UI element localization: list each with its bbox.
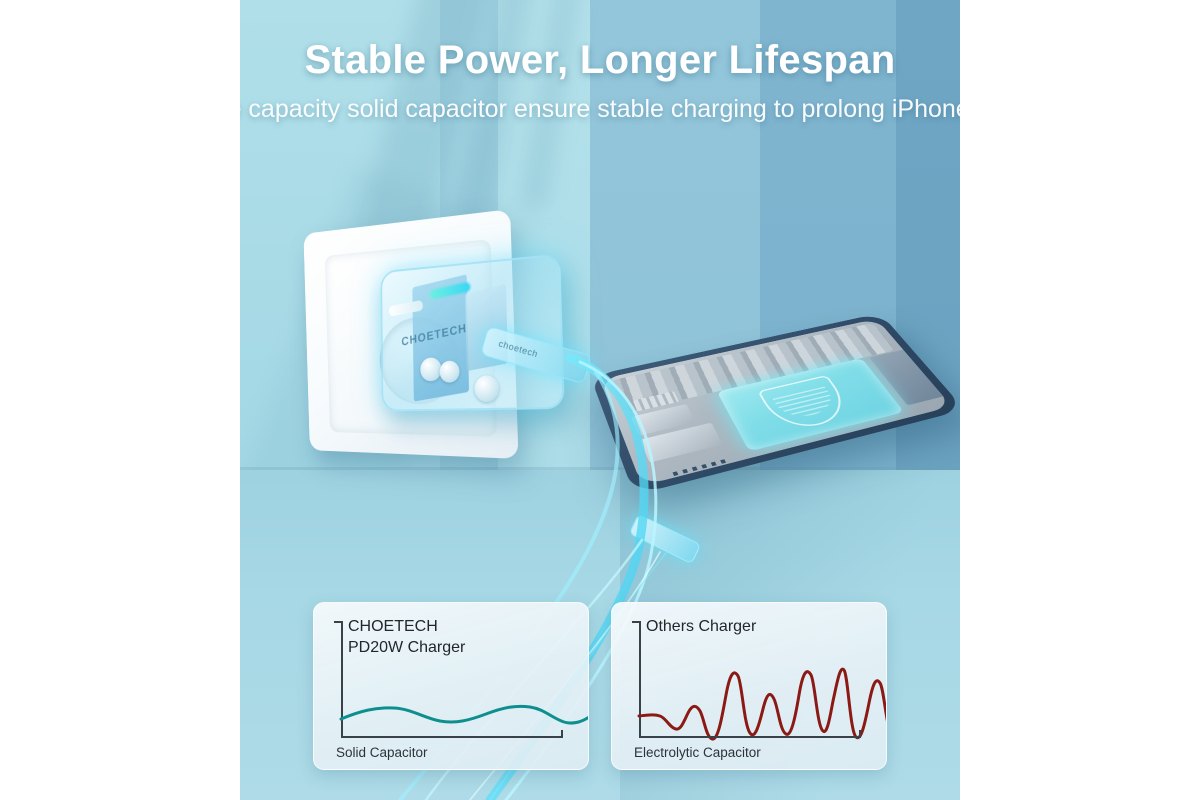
- card-footer-electrolytic-capacitor: Electrolytic Capacitor: [634, 745, 761, 760]
- card-footer-solid-capacitor: Solid Capacitor: [336, 745, 428, 760]
- chart-x-axis: [341, 736, 563, 738]
- battery-shield-icon: [757, 375, 856, 434]
- chart-x-axis-tick: [859, 730, 861, 737]
- product-marketing-banner: CHOETECH choetech: [0, 0, 1200, 800]
- chart-x-axis: [639, 736, 861, 738]
- waveform-unstable: [634, 621, 887, 741]
- shield-lines: [771, 384, 840, 422]
- solid-capacitor-3: [474, 375, 499, 402]
- letterbox-left: [0, 0, 240, 800]
- letterbox-right: [960, 0, 1200, 800]
- transparent-charger-body: CHOETECH: [380, 253, 564, 411]
- connector-brand-label: choetech: [497, 338, 539, 359]
- waveform-stable: [336, 621, 589, 741]
- chart-x-axis-tick: [561, 730, 563, 737]
- card-choetech: CHOETECH PD20W Charger Solid Capacitor: [313, 602, 589, 770]
- card-others: Others Charger Electrolytic Capacitor: [611, 602, 887, 770]
